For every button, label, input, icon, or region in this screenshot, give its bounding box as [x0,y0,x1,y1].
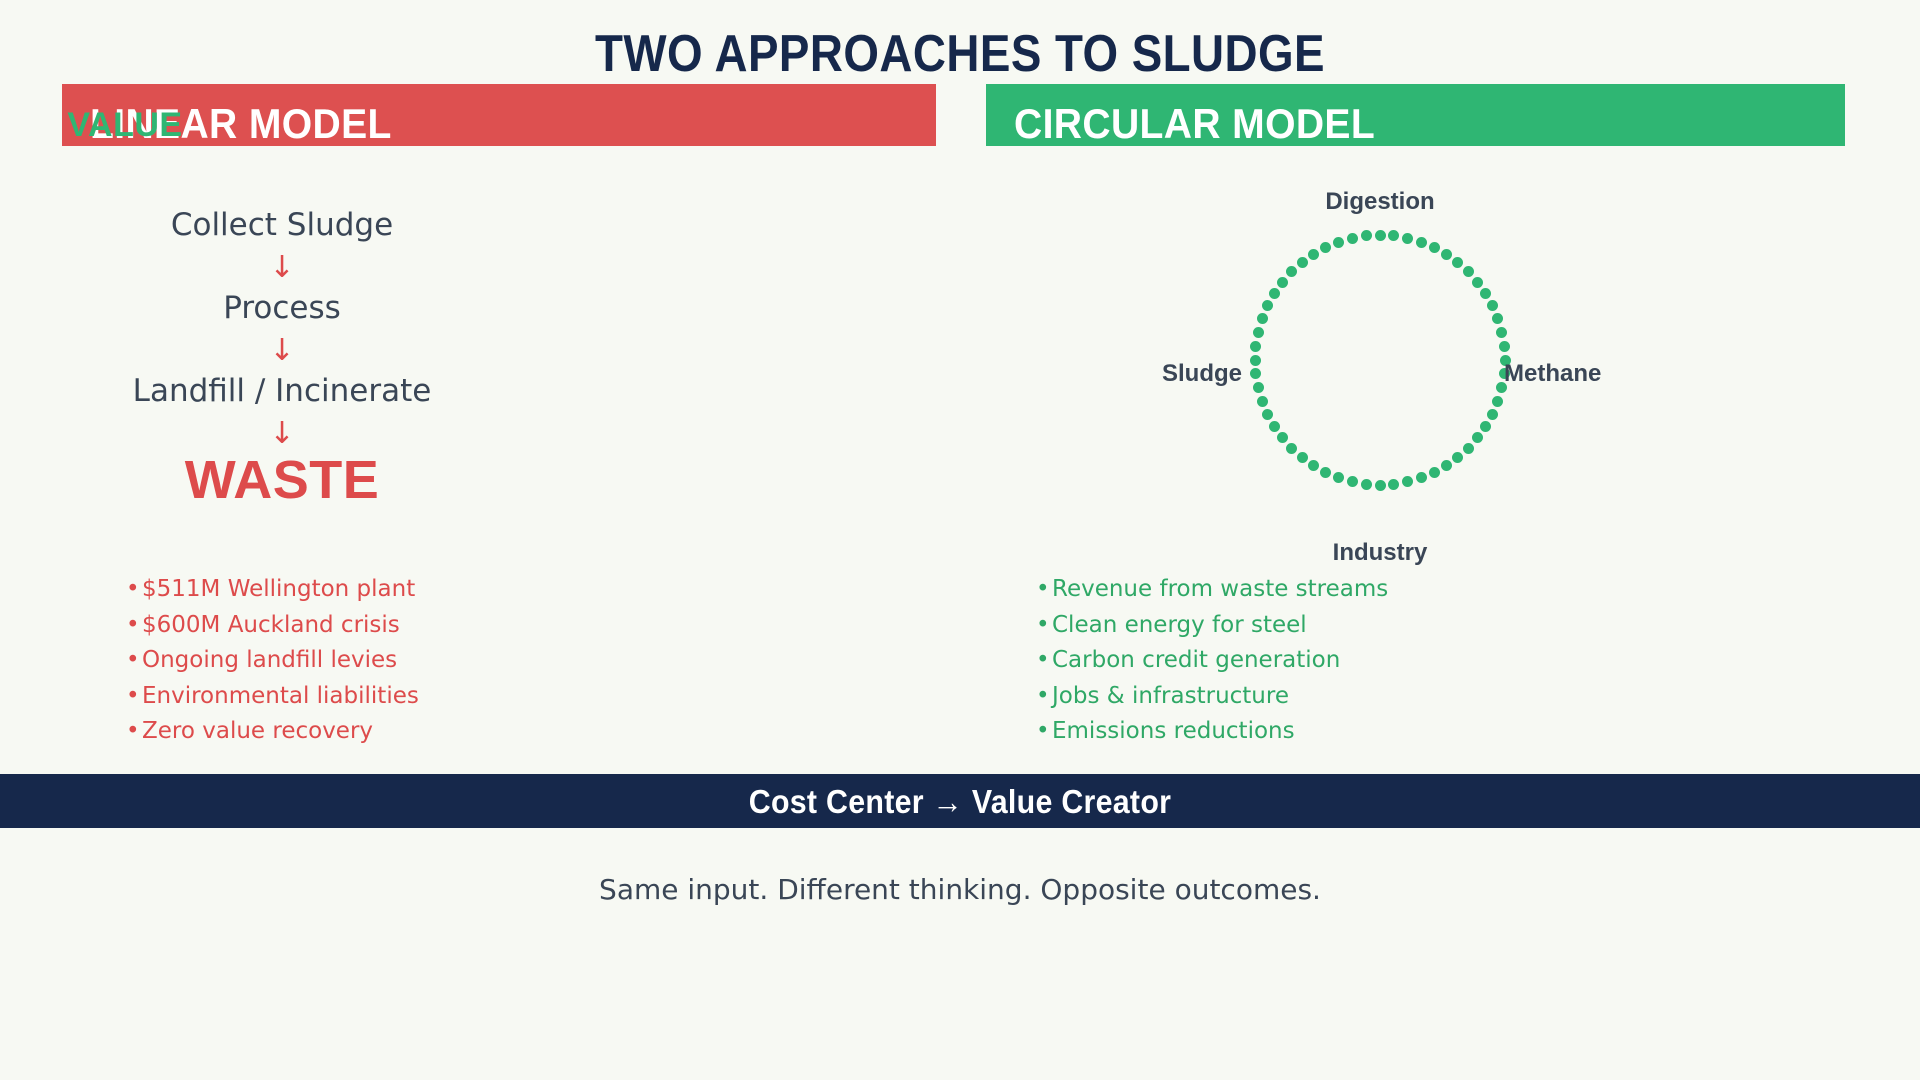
ring-dot [1262,409,1273,420]
down-arrow-icon: ↓ [62,336,502,366]
list-item: •Environmental liabilities [126,679,419,715]
linear-flow-diagram: Collect Sludge ↓ Process ↓ Landfill / In… [62,210,502,507]
ring-dot [1375,480,1386,491]
ring-dot [1333,237,1344,248]
ring-dot [1388,479,1399,490]
list-item: •Zero value recovery [126,714,419,750]
ring-dot [1416,237,1427,248]
ring-dot [1269,288,1280,299]
cycle-center-value-label: VALUE [0,106,250,145]
ring-dot [1333,472,1344,483]
ring-dot [1361,479,1372,490]
bullet-dot-icon: • [126,679,142,715]
list-item-label: $511M Wellington plant [142,576,415,602]
list-item: •$511M Wellington plant [126,572,419,608]
ring-dot [1320,467,1331,478]
ring-dot [1250,341,1261,352]
list-item-label: Carbon credit generation [1052,647,1340,673]
ring-dot [1250,355,1261,366]
ring-dot [1297,452,1308,463]
ring-dot [1320,242,1331,253]
ring-dot [1286,443,1297,454]
ring-dot [1286,266,1297,277]
ring-dot [1472,277,1483,288]
circular-model-bullet-list: •Revenue from waste streams•Clean energy… [1036,572,1388,750]
list-item-label: Jobs & infrastructure [1052,683,1289,709]
list-item-label: Environmental liabilities [142,683,419,709]
ring-dot [1492,313,1503,324]
flow-step-process: Process [62,293,502,324]
list-item: •Ongoing landfill levies [126,643,419,679]
ring-dot [1375,230,1386,241]
ring-dot [1361,230,1372,241]
flow-step-collect-sludge: Collect Sludge [62,210,502,241]
ring-dot [1452,452,1463,463]
ring-dot [1487,300,1498,311]
ring-dot [1402,233,1413,244]
list-item: •Carbon credit generation [1036,643,1388,679]
flow-step-landfill-incinerate: Landfill / Incinerate [62,376,502,407]
ring-dot [1463,266,1474,277]
bullet-dot-icon: • [1036,679,1052,715]
bullet-dot-icon: • [1036,714,1052,750]
down-arrow-icon: ↓ [62,419,502,449]
ring-dot [1429,467,1440,478]
list-item-label: Clean energy for steel [1052,612,1307,638]
circular-model-header-bar: CIRCULAR MODEL [986,84,1845,146]
ring-dot [1441,249,1452,260]
ring-dot [1347,233,1358,244]
list-item-label: Emissions reductions [1052,718,1295,744]
ring-dot [1487,409,1498,420]
ring-dot [1347,476,1358,487]
footer-banner-text: Cost Center → Value Creator [77,783,1843,821]
ring-dot [1277,277,1288,288]
ring-dot [1308,460,1319,471]
ring-dot [1257,396,1268,407]
bullet-dot-icon: • [1036,572,1052,608]
ring-dot [1297,257,1308,268]
bullet-dot-icon: • [1036,608,1052,644]
ring-dot [1492,396,1503,407]
list-item: •Emissions reductions [1036,714,1388,750]
footer-banner: Cost Center → Value Creator [0,774,1920,828]
list-item: •$600M Auckland crisis [126,608,419,644]
ring-dot [1472,432,1483,443]
bullet-dot-icon: • [126,608,142,644]
bullet-dot-icon: • [126,643,142,679]
ring-dot [1388,230,1399,241]
ring-dot [1499,341,1510,352]
ring-dot [1452,257,1463,268]
list-item-label: Zero value recovery [142,718,373,744]
cycle-label-industry: Industry [1255,539,1505,567]
ring-dot [1429,242,1440,253]
ring-dot [1269,421,1280,432]
ring-dot [1277,432,1288,443]
ring-dot [1480,288,1491,299]
footer-tagline: Same input. Different thinking. Opposite… [0,873,1920,906]
ring-dot [1496,327,1507,338]
bullet-dot-icon: • [1036,643,1052,679]
page-title: TWO APPROACHES TO SLUDGE [115,24,1805,84]
flow-outcome-waste: WASTE [62,453,502,507]
list-item: •Jobs & infrastructure [1036,679,1388,715]
ring-dot [1253,327,1264,338]
bullet-dot-icon: • [126,572,142,608]
ring-dot [1250,368,1261,379]
cycle-label-methane: Methane [1504,360,1601,388]
ring-dot [1253,382,1264,393]
ring-dot [1257,313,1268,324]
down-arrow-icon: ↓ [62,253,502,283]
ring-dot [1402,476,1413,487]
list-item: •Clean energy for steel [1036,608,1388,644]
list-item-label: Ongoing landfill levies [142,647,397,673]
linear-model-bullet-list: •$511M Wellington plant•$600M Auckland c… [126,572,419,750]
bullet-dot-icon: • [126,714,142,750]
ring-dot [1441,460,1452,471]
value-cycle-diagram [1255,235,1505,485]
cycle-label-digestion: Digestion [1255,188,1505,216]
ring-dot [1480,421,1491,432]
cycle-label-sludge: Sludge [1162,360,1242,388]
circular-model-header-label: CIRCULAR MODEL [1014,100,1375,148]
list-item: •Revenue from waste streams [1036,572,1388,608]
ring-dot [1416,472,1427,483]
ring-dot [1463,443,1474,454]
list-item-label: $600M Auckland crisis [142,612,400,638]
dotted-circle-icon [1255,235,1505,485]
ring-dot [1262,300,1273,311]
list-item-label: Revenue from waste streams [1052,576,1388,602]
ring-dot [1308,249,1319,260]
